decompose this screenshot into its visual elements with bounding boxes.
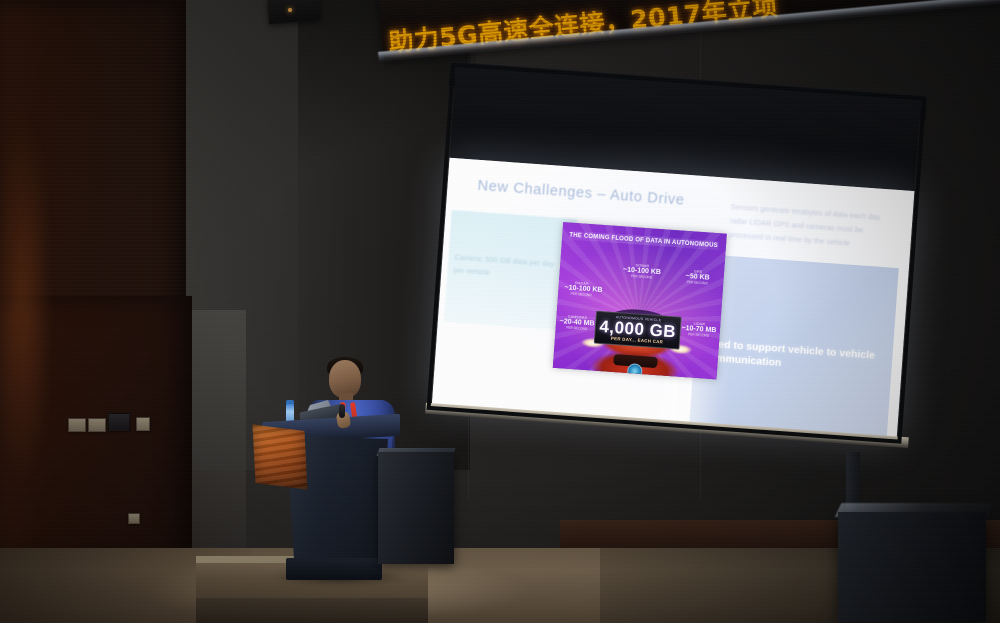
slide-right-text: Sensors generate terabytes of data each … [728, 200, 901, 254]
infographic-node: GPS ~50 KB PER SECOND [677, 268, 718, 286]
ceiling-speaker-led [288, 8, 292, 12]
stage-riser [196, 598, 428, 623]
presentation-photo: 助力5G高速全连接，2017年立项 New Challenges – Auto … [0, 0, 1000, 623]
infographic-center-plate: AUTONOMOUS VEHICLE 4,000 GB PER DAY... E… [594, 311, 682, 350]
infographic-node: RADAR ~10-100 KB PER SECOND [564, 280, 599, 298]
projection-screen: New Challenges – Auto Drive Camera: 500 … [431, 68, 921, 450]
slide-title: New Challenges – Auto Drive [477, 178, 685, 209]
infographic-image: THE COMING FLOOD OF DATA IN AUTONOMOUS V… [553, 222, 727, 379]
microphone-icon [339, 404, 345, 418]
wall-outlet[interactable] [68, 418, 86, 432]
projected-slide-area: New Challenges – Auto Drive Camera: 500 … [432, 158, 915, 439]
podium-wood-panel [253, 425, 308, 490]
intel-badge-icon [627, 363, 643, 379]
gray-wall-panel-lower [186, 310, 246, 560]
floor-speaker-center [378, 452, 454, 564]
slide: New Challenges – Auto Drive Camera: 500 … [432, 158, 915, 439]
wall-outlet[interactable] [88, 418, 106, 432]
wall-light-glow [0, 40, 46, 560]
wall-outlet[interactable] [136, 417, 150, 431]
wall-control-panel[interactable] [108, 413, 130, 431]
wall-outlet-low[interactable] [128, 513, 140, 524]
infographic-node: SONAR ~10-100 KB PER SECOND [619, 262, 664, 280]
floor-speaker-right [838, 512, 986, 622]
podium-base [286, 558, 382, 580]
